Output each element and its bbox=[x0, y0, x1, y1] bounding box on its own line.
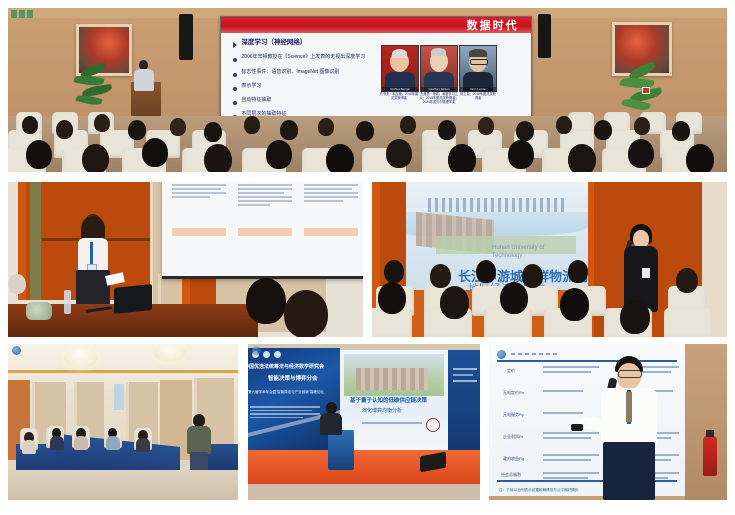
slide-footnote: 注：下标12分别表示设置和解情形与公平偏好情形 bbox=[499, 488, 578, 493]
slide-bullet: 表示学习 bbox=[233, 84, 394, 91]
portrait-caption: Yoshua Bengio bbox=[382, 87, 418, 91]
formula-cell bbox=[543, 432, 599, 439]
institution-seal-watermark bbox=[12, 346, 21, 355]
fire-extinguisher-handle bbox=[706, 430, 714, 437]
attendee-head bbox=[246, 278, 286, 324]
necktie bbox=[626, 392, 632, 422]
table-row-label: 无电服务Ry bbox=[503, 412, 524, 418]
backdrop-title: 中国优选法统筹法与经济数学研究会 bbox=[248, 364, 324, 371]
slide-caption-bar bbox=[304, 228, 358, 236]
flower-arrangement bbox=[26, 302, 52, 320]
chandelier bbox=[64, 348, 98, 368]
formula-cell bbox=[543, 454, 599, 461]
floor bbox=[8, 470, 238, 500]
presenter bbox=[132, 60, 156, 90]
potted-plant-left bbox=[70, 64, 118, 114]
slide-title: 数据时代 bbox=[467, 17, 519, 33]
portrait-lecun: Yann LeCun bbox=[459, 45, 497, 92]
screen-seal bbox=[426, 418, 440, 432]
panel-top-lecture-hall: 数据时代 深度学习（神经网络） 2006年辛顿教授在《Science》上发表的无… bbox=[8, 8, 727, 172]
stage-floor bbox=[248, 484, 480, 500]
campus-buildings bbox=[356, 368, 428, 390]
attendee-head bbox=[284, 290, 328, 337]
female-speaker-with-mic bbox=[620, 224, 664, 314]
portrait-caption-detail-3: 杨立昆；2018年图灵奖获得者 bbox=[459, 92, 497, 100]
portrait-caption-detail-2: 杰弗里 · 辛顿；深度学习之父；2018年图灵奖获得者；2024年诺贝尔物理学奖 bbox=[419, 92, 459, 104]
formula-cell bbox=[543, 366, 599, 373]
slide-text-column bbox=[172, 184, 226, 200]
lanyard bbox=[90, 242, 93, 264]
backdrop-right-screen: 基于量子认知的低碳供应链决策 演化博弈均衡分析 bbox=[340, 350, 448, 450]
slide-text-column bbox=[304, 184, 358, 204]
backdrop-right-blue-strip bbox=[448, 350, 480, 450]
bullet-triangle-icon bbox=[233, 42, 237, 48]
brand-logo-watermark bbox=[11, 10, 33, 18]
bullet-dot-icon bbox=[233, 73, 237, 77]
backdrop-subtitle: 智能决策与博弈分会 bbox=[268, 376, 318, 384]
bullet-dot-icon bbox=[233, 87, 237, 91]
audio-speaker-left bbox=[179, 14, 193, 60]
ceiling-trim bbox=[8, 370, 238, 373]
panel-bottom-right-formula-talk: 定价 无电定价Rn 无电服务Ry 企业利润Rr 政府收益Rg 社会总福利 bbox=[489, 344, 727, 500]
table-row-label: 社会总福利 bbox=[501, 472, 521, 478]
portrait-caption: Yann LeCun bbox=[460, 87, 496, 91]
slide-bullet: 2006年辛顿教授在《Science》上发表的无视出深度学习 bbox=[233, 55, 394, 62]
screen-subtitle: 演化博弈均衡分析 bbox=[362, 408, 402, 415]
screen-title: 基于量子认知的低碳供应链决策 bbox=[350, 398, 427, 406]
portrait-bengio: Yoshua Bengio bbox=[381, 45, 419, 92]
fire-alarm-icon bbox=[642, 87, 650, 94]
slide-header-dots bbox=[511, 353, 559, 355]
stage-speaker bbox=[318, 402, 344, 442]
remote-clicker bbox=[571, 424, 583, 431]
slide-caption-bar bbox=[172, 228, 226, 236]
male-speaker-with-mic bbox=[593, 356, 679, 500]
photo-collage: 数据时代 深度学习（神经网络） 2006年辛顿教授在《Science》上发表的无… bbox=[0, 0, 735, 515]
table-row-label: 定价 bbox=[507, 368, 515, 374]
institution-seal-watermark bbox=[252, 346, 261, 355]
bullet-dot-icon bbox=[233, 58, 237, 62]
slide-bullet: 深度学习（神经网络） bbox=[233, 39, 394, 48]
institution-seal-watermark bbox=[497, 350, 506, 359]
laptop bbox=[114, 284, 152, 314]
portrait-caption-detail-1: 约书亚 · 本吉奥；2018年图灵奖获得者 bbox=[379, 92, 419, 100]
portrait-hinton: Geoffrey Hinton bbox=[420, 45, 458, 92]
slide-caption-bar bbox=[238, 228, 292, 236]
slide-bullet: 自动特征抽取 bbox=[233, 98, 394, 105]
fire-extinguisher bbox=[703, 436, 717, 476]
audio-speaker-right bbox=[538, 14, 551, 58]
panel-bottom-center-conference-stage: 中国优选法统筹法与经济数学研究会 智能决策与博弈分会 第六届学术年会暨“智能算法… bbox=[248, 344, 480, 500]
chandelier bbox=[154, 344, 186, 362]
portrait-caption: Geoffrey Hinton bbox=[421, 87, 457, 91]
slide-text-column bbox=[238, 184, 292, 208]
slide-bullet: 标志性事件：语音识别、ImageNet 图像识别 bbox=[233, 70, 394, 77]
bullet-dot-icon bbox=[233, 101, 237, 105]
table-row-label: 企业利润Rr bbox=[503, 434, 523, 440]
attendee-head bbox=[8, 274, 26, 294]
formula-cell bbox=[543, 390, 583, 392]
panel-mid-right-logistics-talk: Hunan University of Technology 长江中游城市群物流… bbox=[372, 182, 727, 337]
wall-right bbox=[685, 344, 727, 500]
projection-screen bbox=[162, 182, 363, 279]
panel-mid-left-female-presenter bbox=[8, 182, 363, 337]
panel-bottom-left-seminar-room bbox=[8, 344, 238, 500]
table-row-label: 政府收益Rg bbox=[503, 456, 524, 462]
backdrop-line3: 第六届学术年会暨“智能算法与产业创新”高峰论坛 bbox=[248, 390, 324, 395]
wall-trim bbox=[30, 182, 41, 300]
eyeglasses bbox=[618, 370, 642, 378]
table-row-label: 无电定价Rn bbox=[503, 390, 524, 396]
formula-cell bbox=[543, 472, 599, 479]
water-bottle bbox=[64, 290, 71, 314]
screen-presenter-line bbox=[362, 422, 422, 424]
badge bbox=[642, 268, 650, 278]
slide-english-title: Hunan University of Technology bbox=[492, 244, 552, 261]
formula-cell bbox=[543, 412, 583, 414]
window-glass bbox=[114, 384, 124, 410]
